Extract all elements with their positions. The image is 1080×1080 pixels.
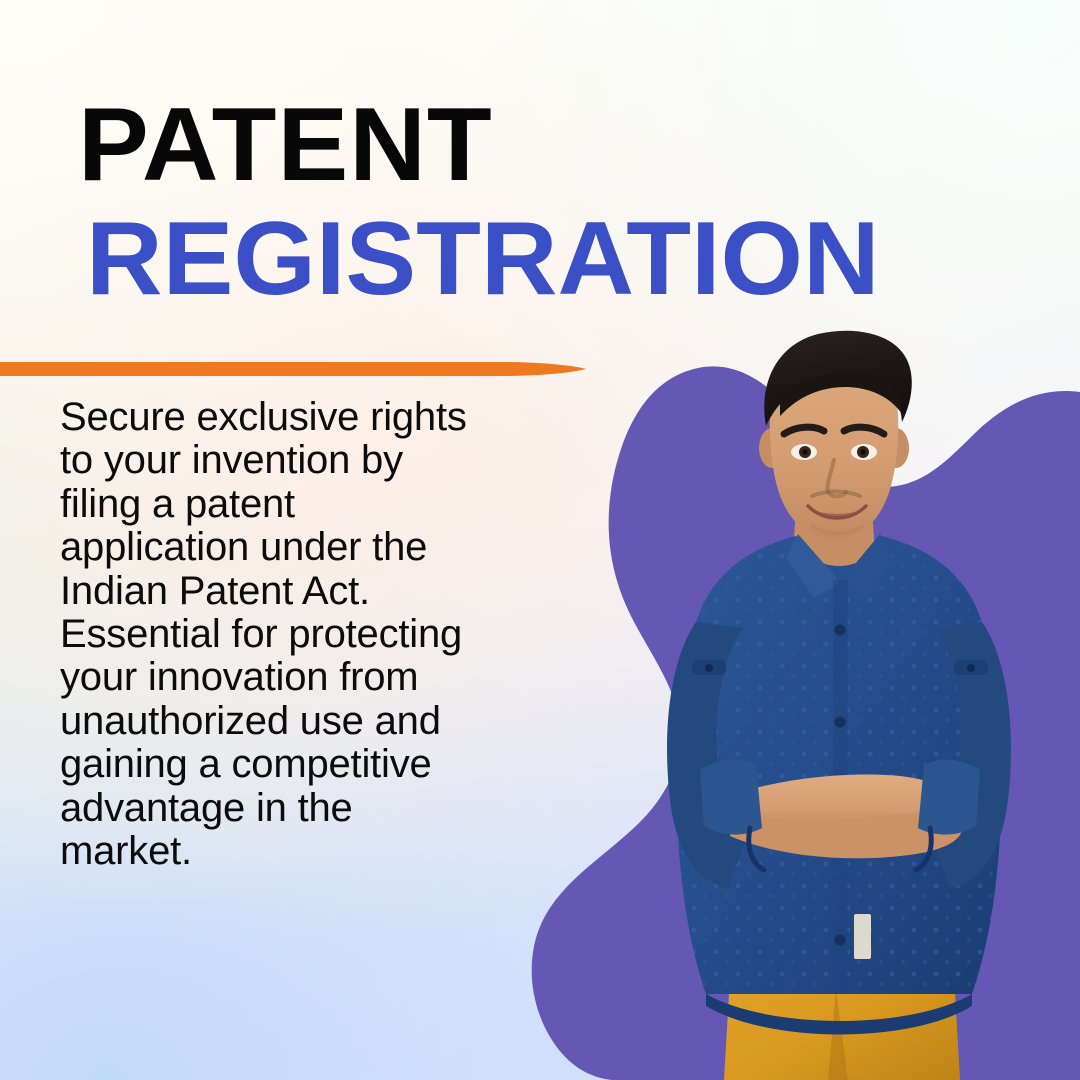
page-title-secondary: REGISTRATION bbox=[86, 210, 880, 310]
headline-block: PATENT REGISTRATION bbox=[78, 96, 864, 310]
orange-divider bbox=[0, 358, 600, 380]
page-title-primary: PATENT bbox=[78, 96, 880, 196]
person-photo bbox=[600, 330, 1080, 1080]
body-paragraph: Secure exclusive rights to your inventio… bbox=[60, 396, 530, 873]
poster-canvas: PATENT REGISTRATION Secure exclusive rig… bbox=[0, 0, 1080, 1080]
